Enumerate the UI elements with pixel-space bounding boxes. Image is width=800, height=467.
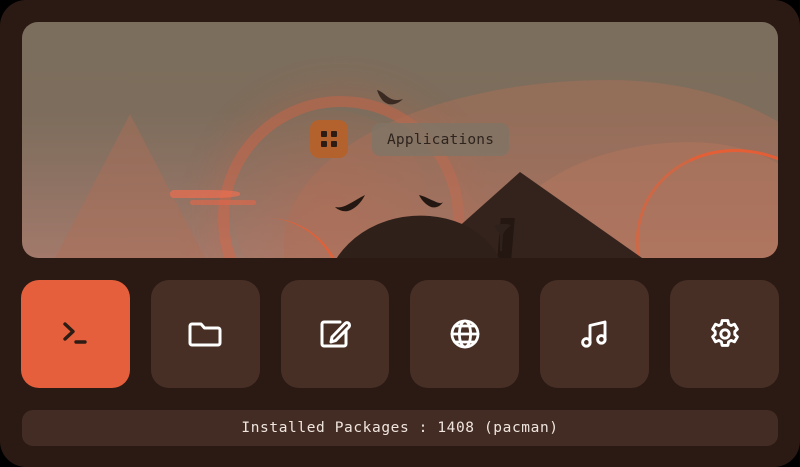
globe-icon — [442, 311, 488, 357]
dock-item-editor[interactable] — [281, 280, 390, 388]
mountain-left — [52, 114, 208, 258]
status-bar: Installed Packages : 1408 (pacman) — [22, 410, 778, 446]
music-note-icon — [572, 311, 618, 357]
grid-icon — [321, 131, 337, 147]
dock-item-music[interactable] — [540, 280, 649, 388]
cloud-streak — [170, 190, 240, 198]
gear-icon — [702, 311, 748, 357]
edit-square-icon — [312, 311, 358, 357]
bird-right-icon — [492, 222, 514, 252]
bird-left-icon — [334, 194, 366, 214]
dock-item-files[interactable] — [151, 280, 260, 388]
applications-launcher-button[interactable] — [310, 120, 348, 158]
desktop-panel: Applications — [0, 0, 800, 467]
dock-item-browser[interactable] — [410, 280, 519, 388]
installed-packages-text: Installed Packages : 1408 (pacman) — [241, 420, 558, 436]
dock — [21, 280, 779, 388]
bird-upper-icon — [376, 88, 404, 110]
terminal-icon — [52, 311, 98, 357]
applications-label[interactable]: Applications — [372, 123, 509, 156]
bird-center-icon — [418, 192, 444, 210]
cloud-streak-secondary — [190, 200, 256, 205]
folder-icon — [182, 311, 228, 357]
dock-item-terminal[interactable] — [21, 280, 130, 388]
dock-item-settings[interactable] — [670, 280, 779, 388]
